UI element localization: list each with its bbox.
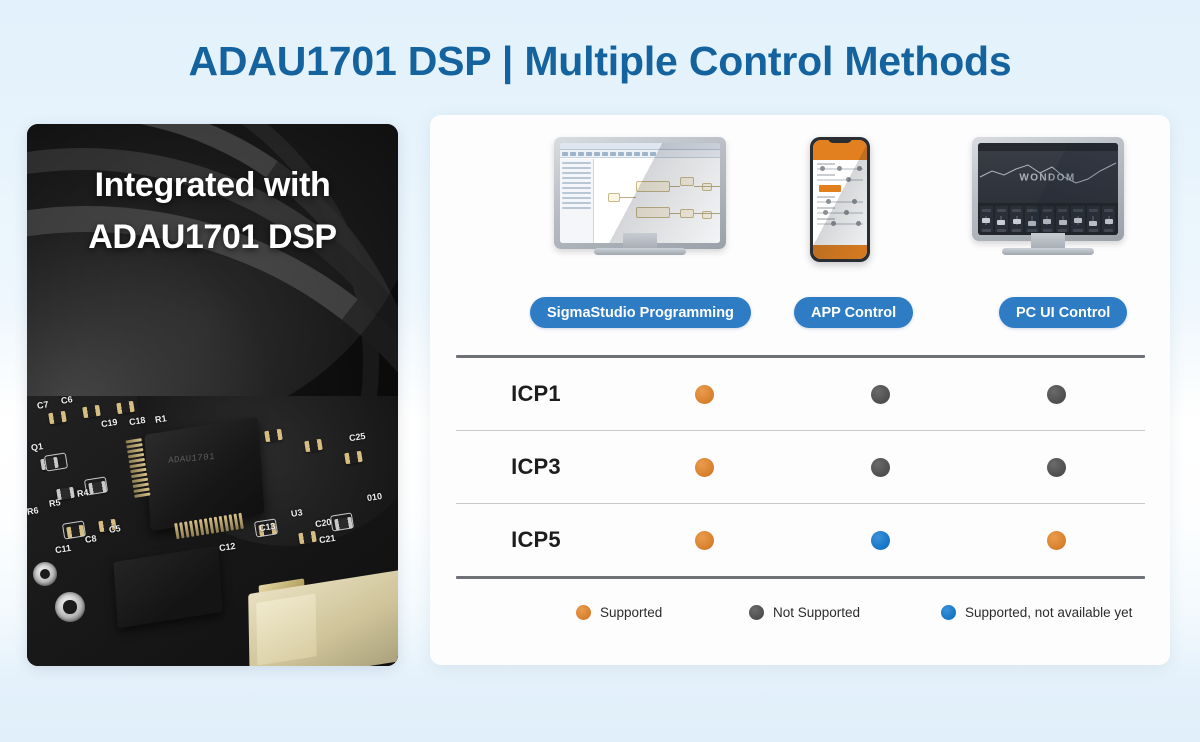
status-dot-unsupported [1047, 458, 1066, 477]
table-row: ICP3 [456, 431, 1145, 503]
pc-ui-watermark: WONDOM [1019, 173, 1075, 184]
sigmastudio-toolbar [560, 150, 720, 158]
mixer-channel[interactable] [1071, 206, 1084, 232]
legend-label-pending: Supported, not available yet [965, 605, 1132, 620]
row-label-icp1: ICP1 [456, 381, 616, 407]
monitor-screen: WONDOM [978, 143, 1118, 235]
pill-app-control[interactable]: APP Control [794, 297, 913, 328]
solder-pad [44, 452, 68, 471]
app-slider-row [817, 174, 863, 181]
schematic-node [636, 181, 670, 192]
mixer-channel[interactable] [980, 206, 993, 232]
monitor-bezel: WONDOM [972, 137, 1124, 241]
sigmastudio-body [560, 159, 720, 243]
table-row: ICP1 [456, 358, 1145, 430]
table-bottom-rule [456, 576, 1145, 579]
legend-label-supported: Supported [600, 605, 662, 620]
phone-notch [828, 137, 852, 143]
pcb-photo: ADAU1701 [27, 396, 398, 666]
page-root: ADAU1701 DSP | Multiple Control Methods … [0, 0, 1200, 742]
monitor-stand [623, 233, 657, 249]
mixer-channel[interactable] [1087, 206, 1100, 232]
schematic-wire [670, 213, 680, 214]
status-dot-pending [871, 531, 890, 550]
silkscreen-label: R4 [76, 487, 89, 499]
mixer-channel[interactable] [1010, 206, 1023, 232]
legend-item-pending: Supported, not available yet [941, 605, 1132, 620]
cell-icp1-sigmastudio [616, 385, 792, 404]
sigmastudio-tree-panel [560, 159, 594, 243]
status-dot-supported [695, 458, 714, 477]
channel-fader[interactable] [1077, 216, 1079, 225]
status-dot-unsupported [871, 385, 890, 404]
page-title: ADAU1701 DSP | Multiple Control Methods [0, 38, 1200, 85]
channel-fader[interactable] [1046, 216, 1048, 225]
phone-screen [813, 140, 867, 259]
channel-fader[interactable] [1016, 216, 1018, 225]
monitor-base [1002, 248, 1094, 255]
legend-label-unsupported: Not Supported [773, 605, 860, 620]
mounting-hole [55, 592, 85, 622]
cell-icp3-app [792, 458, 968, 477]
mixer-channel[interactable] [1025, 206, 1038, 232]
app-footer-bar [813, 245, 867, 259]
device-illustrations: WONDOM [430, 137, 1170, 287]
device-sigmastudio [540, 137, 740, 287]
solder-pad [330, 512, 354, 531]
sigmastudio-menubar [560, 143, 720, 150]
app-slider-row [817, 163, 863, 170]
product-heading-line-1: Integrated with [27, 159, 398, 211]
app-slider [817, 223, 863, 225]
table-row: ICP5 [456, 504, 1145, 576]
schematic-wire [694, 213, 720, 214]
app-action-button[interactable] [819, 185, 841, 192]
schematic-node [702, 183, 712, 191]
dsp-chip: ADAU1701 [144, 417, 264, 531]
monitor-base [594, 248, 686, 255]
desktop-monitor-icon [540, 137, 740, 255]
desktop-monitor-icon: WONDOM [955, 137, 1140, 255]
schematic-node [680, 209, 694, 218]
sigmastudio-schematic-canvas [594, 159, 720, 243]
channel-fader[interactable] [985, 216, 987, 225]
schematic-node [636, 207, 670, 218]
channel-fader[interactable] [1000, 216, 1002, 225]
legend: Supported Not Supported Supported, not a… [456, 595, 1145, 629]
pill-sigmastudio-programming[interactable]: SigmaStudio Programming [530, 297, 751, 328]
pc-ui-mixer [978, 203, 1118, 235]
legend-dot-supported [576, 605, 591, 620]
cell-icp1-pcui [969, 385, 1145, 404]
smartphone-icon [810, 137, 870, 262]
support-matrix-table: ICP1 ICP3 ICP5 [456, 355, 1145, 579]
monitor-stand [1031, 233, 1065, 249]
schematic-node [680, 177, 694, 186]
app-slider [817, 212, 863, 214]
silkscreen-label: R6 [27, 505, 39, 517]
control-methods-card: WONDOM [430, 115, 1170, 665]
legend-dot-unsupported [749, 605, 764, 620]
pc-ui-titlebar [978, 143, 1118, 151]
status-dot-unsupported [871, 458, 890, 477]
app-control-rows [813, 160, 867, 232]
solder-pad [62, 520, 86, 539]
pc-ui-eq-graph: WONDOM [978, 151, 1118, 203]
device-app-phone [800, 137, 880, 287]
app-slider-row [817, 207, 863, 214]
device-pc-ui: WONDOM [955, 137, 1140, 287]
schematic-wire [694, 186, 720, 187]
mixer-channel[interactable] [1056, 206, 1069, 232]
legend-item-supported: Supported [576, 605, 662, 620]
cell-icp5-app [792, 531, 968, 550]
schematic-wire [670, 186, 680, 187]
silkscreen-label: R5 [48, 497, 61, 509]
row-label-icp3: ICP3 [456, 454, 616, 480]
legend-dot-pending [941, 605, 956, 620]
legend-item-unsupported: Not Supported [749, 605, 860, 620]
pc-ui-app: WONDOM [978, 143, 1118, 235]
mixer-channel[interactable] [1102, 206, 1115, 232]
channel-fader[interactable] [1062, 216, 1064, 225]
product-card-heading: Integrated with ADAU1701 DSP [27, 159, 398, 263]
status-dot-supported [695, 385, 714, 404]
channel-fader[interactable] [1092, 216, 1094, 225]
app-slider-row [817, 218, 863, 225]
mixer-channel[interactable] [995, 206, 1008, 232]
cell-icp3-pcui [969, 458, 1145, 477]
app-slider [817, 168, 863, 170]
row-label-icp5: ICP5 [456, 527, 616, 553]
app-header-bar [813, 140, 867, 160]
product-heading-line-2: ADAU1701 DSP [27, 211, 398, 263]
silkscreen-label: C7 [36, 399, 49, 411]
schematic-wire [620, 197, 636, 198]
cell-icp5-sigmastudio [616, 531, 792, 550]
silkscreen-label: C8 [84, 533, 97, 545]
cell-icp3-sigmastudio [616, 458, 792, 477]
cell-icp1-app [792, 385, 968, 404]
app-slider-row [817, 196, 863, 203]
app-slider [817, 201, 863, 203]
status-dot-supported [1047, 531, 1066, 550]
silkscreen-label: Q1 [30, 441, 43, 453]
silkscreen-label: R1 [154, 413, 167, 425]
monitor-screen [560, 143, 720, 243]
column-header-pills: SigmaStudio Programming APP Control PC U… [430, 297, 1170, 337]
product-image-card: Integrated with ADAU1701 DSP ADAU1701 [27, 124, 398, 666]
status-dot-supported [695, 531, 714, 550]
chip-marking-label: ADAU1701 [168, 452, 215, 466]
mixer-channel[interactable] [1041, 206, 1054, 232]
app-slider [817, 179, 863, 181]
schematic-node [608, 193, 620, 202]
channel-fader[interactable] [1108, 216, 1110, 225]
pill-pc-ui-control[interactable]: PC UI Control [999, 297, 1127, 328]
mounting-hole [33, 562, 57, 586]
channel-fader[interactable] [1031, 216, 1033, 225]
status-dot-unsupported [1047, 385, 1066, 404]
silkscreen-label: C5 [108, 523, 121, 535]
silkscreen-label: U3 [290, 507, 303, 519]
cell-icp5-pcui [969, 531, 1145, 550]
